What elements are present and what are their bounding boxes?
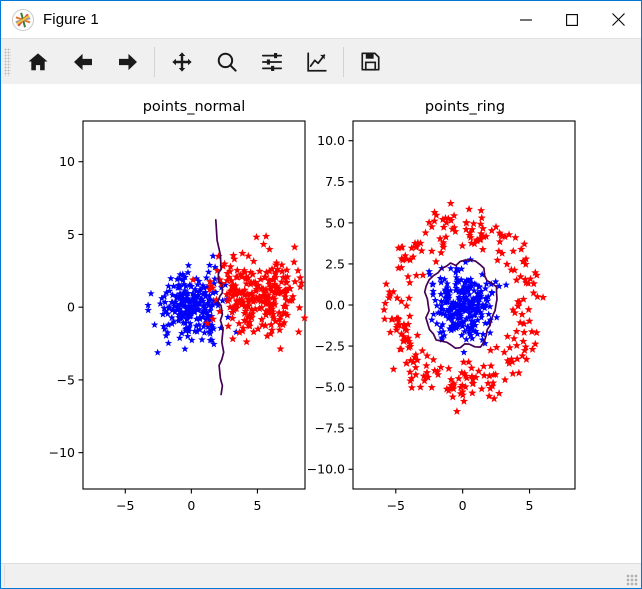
toolbar-drag-handle[interactable] — [4, 48, 11, 76]
y-tick-label: 10 — [59, 154, 75, 169]
x-tick-label: −5 — [116, 498, 134, 513]
status-bar-divider — [1, 565, 5, 587]
chart-line-icon[interactable] — [294, 41, 339, 83]
toolbar-separator — [343, 47, 344, 77]
magnifier-icon[interactable] — [204, 41, 249, 83]
home-icon[interactable] — [15, 41, 60, 83]
y-tick-label: 0.0 — [325, 297, 345, 312]
axes-points-normal: points_normal −505−10−50510 — [49, 99, 309, 513]
x-tick-label: 0 — [187, 498, 195, 513]
maximize-icon[interactable] — [549, 1, 595, 38]
y-tick-label: 10.0 — [317, 133, 345, 148]
y-tick-label: −10 — [49, 445, 75, 460]
y-tick-label: 5.0 — [325, 215, 345, 230]
toolbar-separator — [154, 47, 155, 77]
move-icon[interactable] — [159, 41, 204, 83]
title-bar: Figure 1 — [1, 1, 641, 38]
y-tick-label: −5.0 — [315, 380, 345, 395]
floppy-disk-icon[interactable] — [348, 41, 393, 83]
y-tick-label: 5 — [67, 227, 75, 242]
x-tick-label: 5 — [253, 498, 261, 513]
y-tick-label: 2.5 — [325, 256, 345, 271]
window-controls — [503, 1, 641, 38]
sliders-icon[interactable] — [249, 41, 294, 83]
resize-grip[interactable] — [626, 574, 638, 586]
figure-canvas[interactable]: points_normal −505−10−50510 points_ring … — [1, 84, 641, 563]
y-tick-label: −2.5 — [315, 338, 345, 353]
y-tick-label: 0 — [67, 300, 75, 315]
y-tick-label: −5 — [57, 372, 75, 387]
y-tick-label: −7.5 — [315, 421, 345, 436]
arrow-left-icon[interactable] — [60, 41, 105, 83]
x-tick-label: −5 — [387, 498, 405, 513]
plot-title-left: points_normal — [143, 99, 246, 115]
x-tick-label: 0 — [459, 498, 467, 513]
y-tick-label: −10.0 — [307, 462, 345, 477]
navigation-toolbar — [1, 38, 641, 84]
close-icon[interactable] — [595, 1, 641, 38]
arrow-right-icon[interactable] — [105, 41, 150, 83]
status-bar — [1, 563, 641, 588]
figure-window: Figure 1 — [0, 0, 642, 589]
figure-svg: points_normal −505−10−50510 points_ring … — [1, 84, 641, 524]
y-tick-label: 7.5 — [325, 174, 345, 189]
plot-title-right: points_ring — [425, 99, 505, 115]
window-title: Figure 1 — [43, 11, 99, 28]
x-tick-label: 5 — [526, 498, 534, 513]
matplotlib-logo-icon — [12, 9, 34, 31]
minimize-icon[interactable] — [503, 1, 549, 38]
